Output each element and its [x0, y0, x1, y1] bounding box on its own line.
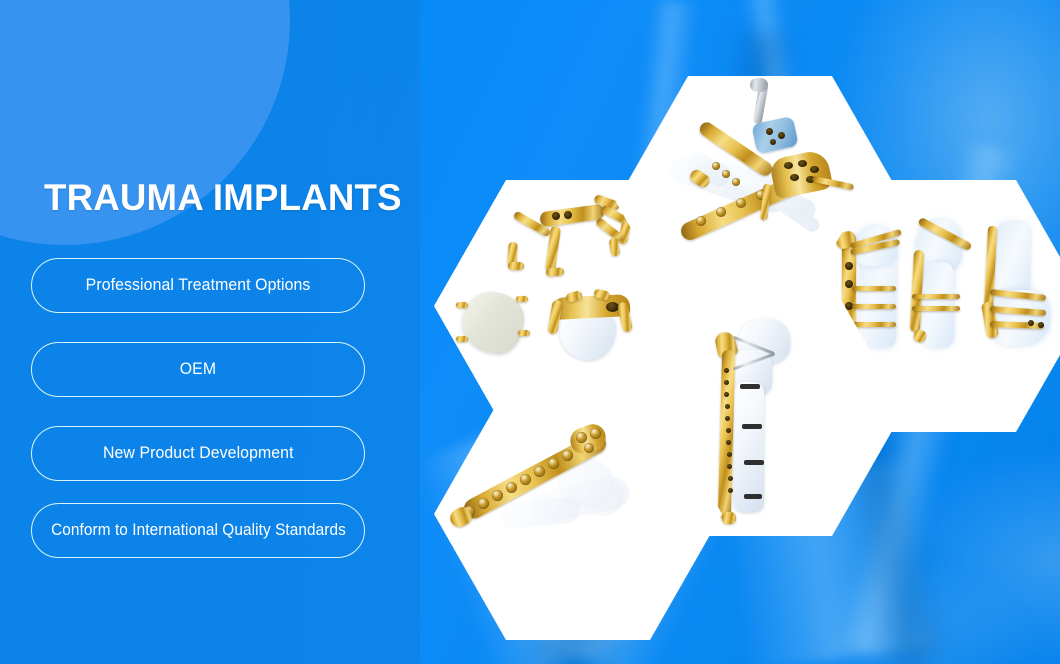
- trauma-implants-banner: TRAUMA IMPLANTS Professional Treatment O…: [0, 0, 1060, 664]
- product-hexagon-cluster: [0, 0, 1060, 664]
